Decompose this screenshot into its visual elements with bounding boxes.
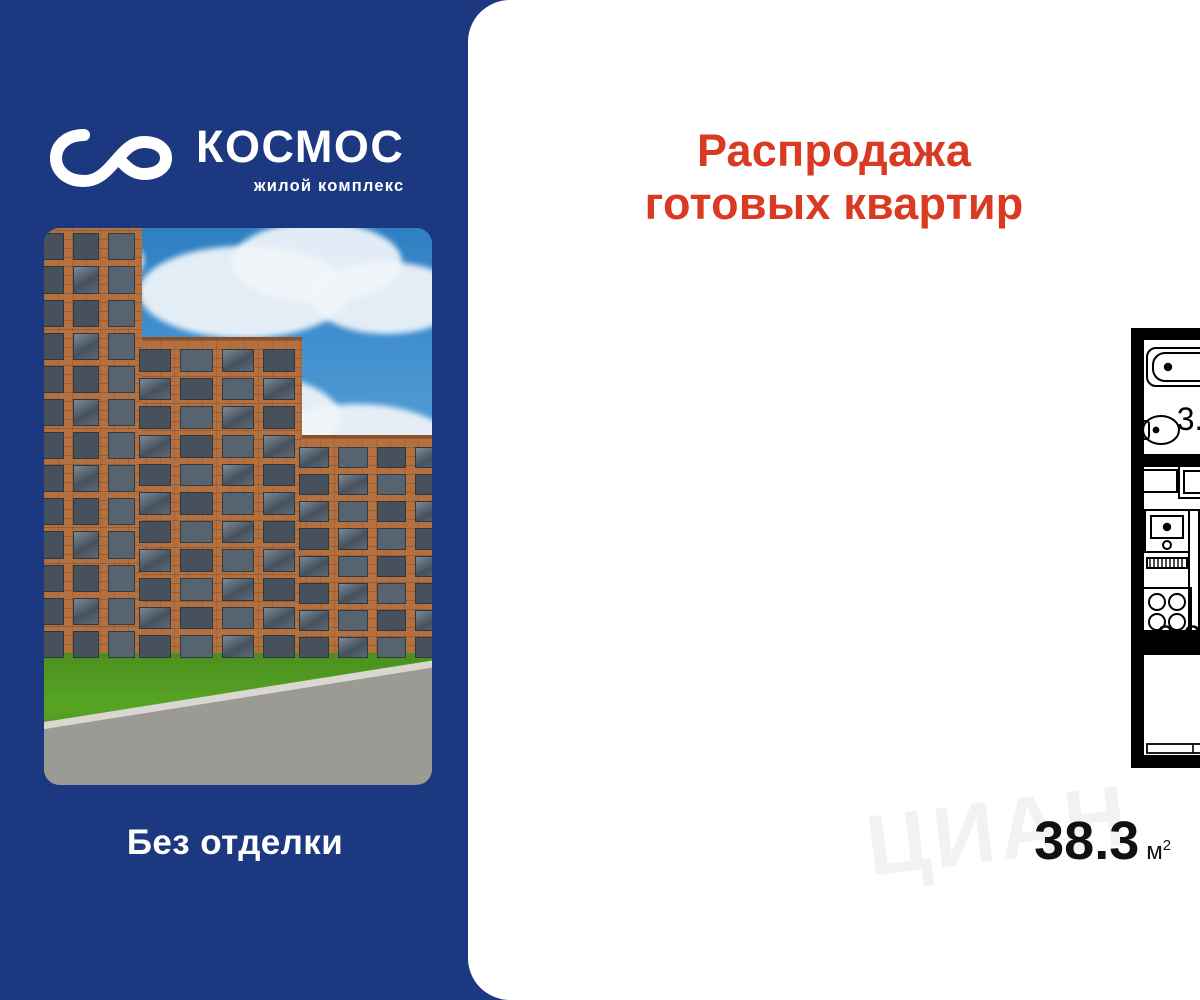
promo-heading-line1: Распродажа [468,124,1200,177]
brand-logo: КОСМОС жилой комплекс [50,122,404,195]
window-grid [44,228,142,667]
brand-tagline: жилой комплекс [196,178,404,195]
building-left-tower [44,228,142,667]
residential-building-photo [44,228,432,785]
brand-wordmark: КОСМОС [196,124,404,169]
building-right [292,435,432,667]
infinity-icon [50,127,178,189]
room-label-kitchen: 9.3 [1157,619,1200,655]
square-superscript: 2 [1163,837,1171,854]
promo-heading: Распродажа готовых квартир [468,124,1200,230]
finish-caption: Без отделки [0,823,470,863]
promo-heading-line2: готовых квартир [468,177,1200,230]
right-white-card: Распродажа готовых квартир ЦИАН [468,0,1200,1000]
left-blue-panel: КОСМОС жилой комплекс [0,0,470,1000]
window-grid [132,340,302,667]
apartment-summary: 38.3 м2 1 комната 9 этаж [936,814,1200,868]
summary-area-value: 38.3 [1034,814,1139,868]
poster-root: КОСМОС жилой комплекс [0,0,1200,1000]
room-label-bathroom: 3.9 [1177,401,1200,437]
building-middle [132,337,302,667]
summary-area: 38.3 м2 [1034,814,1171,868]
brand-text: КОСМОС жилой комплекс [196,122,404,195]
apartment-floor-plan: 3.9 3.9 3.8 16.1 9.3 2.6 1.3 1 16.1 37 [1123,258,1200,788]
window-grid [292,438,432,667]
summary-area-unit: м2 [1146,838,1171,864]
floor-plan-drawing: 3.9 3.9 3.8 16.1 9.3 2.6 1.3 1 16.1 37 [1123,258,1200,788]
